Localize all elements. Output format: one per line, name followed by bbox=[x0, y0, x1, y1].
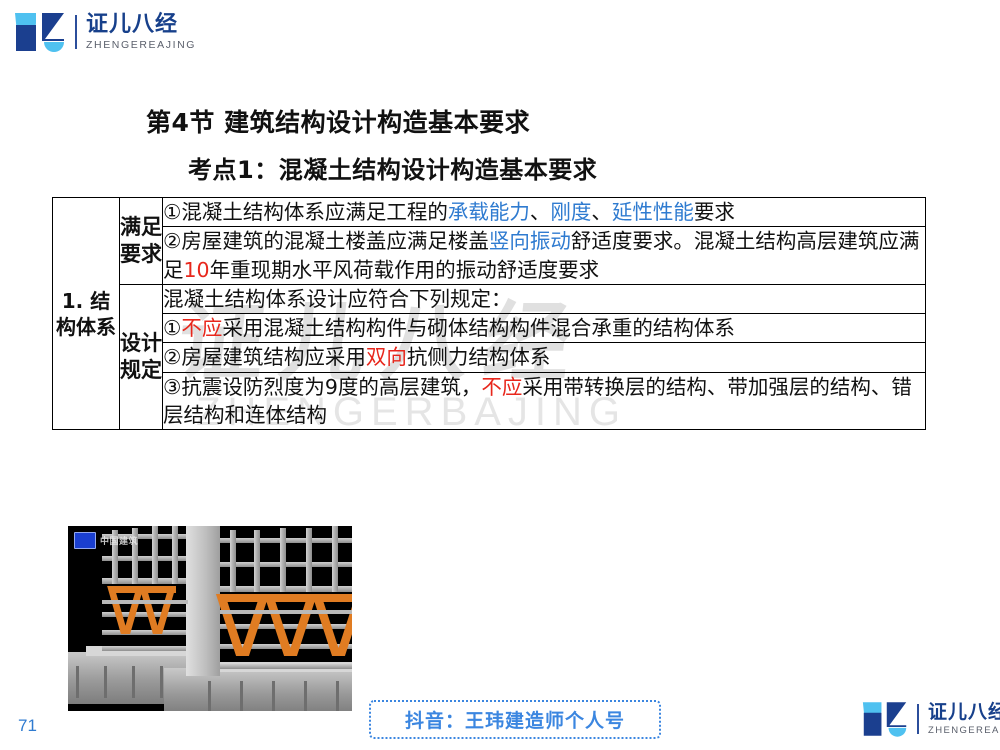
group-label-0: 满足要求 bbox=[120, 198, 163, 285]
brand-divider bbox=[917, 704, 919, 734]
group-label-1: 设计规定 bbox=[120, 284, 163, 429]
text-run-3: 刚度 bbox=[550, 200, 591, 224]
text-run-1: 承载能力 bbox=[448, 200, 530, 224]
content-cell-0-1: ②房屋建筑的混凝土楼盖应满足楼盖竖向振动舒适度要求。混凝土结构高层建筑应满足10… bbox=[163, 227, 926, 285]
photo-watermark-label: 中国建筑 bbox=[100, 534, 138, 547]
z-logo-icon bbox=[862, 700, 908, 738]
text-run-0: ②房屋建筑结构应采用 bbox=[163, 345, 366, 369]
text-run-4: 、 bbox=[591, 200, 612, 224]
douyin-callout: 抖音：王玮建造师个人号 bbox=[369, 700, 661, 739]
table-row: ③抗震设防烈度为9度的高层建筑，不应采用带转换层的结构、带加强层的结构、错层结构… bbox=[53, 372, 926, 430]
content-cell-1-2: ②房屋建筑结构应采用双向抗侧力结构体系 bbox=[163, 343, 926, 372]
text-run-6: 要求 bbox=[694, 200, 735, 224]
blue-badge-icon bbox=[74, 532, 96, 549]
table-row: ①不应采用混凝土结构构件与砌体结构构件混合承重的结构体系 bbox=[53, 314, 926, 343]
content-cell-1-1: ①不应采用混凝土结构构件与砌体结构构件混合承重的结构体系 bbox=[163, 314, 926, 343]
text-run-4: 年重现期水平风荷载作用的振动舒适度要求 bbox=[210, 258, 600, 282]
text-run-2: 抗侧力结构体系 bbox=[407, 345, 551, 369]
brand-name-cn: 证儿八经 bbox=[86, 14, 196, 36]
photo-watermark: 中国建筑 bbox=[74, 532, 138, 549]
brand-logo-bottom: 证儿八经 ZHENGEREAJING bbox=[862, 700, 1000, 738]
content-cell-0-0: ①混凝土结构体系应满足工程的承载能力、刚度、延性性能要求 bbox=[163, 198, 926, 227]
table-row: 1. 结构体系 满足要求 ①混凝土结构体系应满足工程的承载能力、刚度、延性性能要… bbox=[53, 198, 926, 227]
brand-name-cn: 证儿八经 bbox=[928, 703, 1000, 722]
text-run-1: 双向 bbox=[366, 345, 407, 369]
douyin-label: 抖音：王玮建造师个人号 bbox=[405, 706, 625, 733]
brand-divider bbox=[75, 15, 77, 49]
text-run-0: ①混凝土结构体系应满足工程的 bbox=[163, 200, 448, 224]
text-run-2: 采用混凝土结构构件与砌体结构构件混合承重的结构体系 bbox=[222, 316, 735, 340]
text-run-1: 竖向振动 bbox=[489, 229, 571, 253]
text-run-1: 不应 bbox=[481, 375, 522, 399]
brand-logo-top: 证儿八经 ZHENGEREAJING bbox=[14, 11, 196, 53]
text-run-2: 、 bbox=[530, 200, 551, 224]
structure-model-photo: 中国建筑 bbox=[68, 526, 352, 711]
text-run-0: ③抗震设防烈度为9度的高层建筑， bbox=[163, 375, 481, 399]
brand-wordmark: 证儿八经 ZHENGEREAJING bbox=[928, 703, 1000, 736]
brand-name-en: ZHENGEREAJING bbox=[928, 726, 1000, 736]
z-logo-icon bbox=[14, 11, 66, 53]
knowledge-table: 1. 结构体系 满足要求 ①混凝土结构体系应满足工程的承载能力、刚度、延性性能要… bbox=[52, 197, 926, 430]
text-run-0: 混凝土结构体系设计应符合下列规定： bbox=[163, 287, 512, 311]
content-cell-1-0: 混凝土结构体系设计应符合下列规定： bbox=[163, 284, 926, 313]
text-run-0: ②房屋建筑的混凝土楼盖应满足楼盖 bbox=[163, 229, 489, 253]
table-row: ②房屋建筑的混凝土楼盖应满足楼盖竖向振动舒适度要求。混凝土结构高层建筑应满足10… bbox=[53, 227, 926, 285]
table-row: 设计规定 混凝土结构体系设计应符合下列规定： bbox=[53, 284, 926, 313]
table-body: 1. 结构体系 满足要求 ①混凝土结构体系应满足工程的承载能力、刚度、延性性能要… bbox=[53, 198, 926, 430]
text-run-3: 10 bbox=[184, 258, 210, 282]
section-title: 第4节 建筑结构设计构造基本要求 bbox=[146, 103, 530, 139]
text-run-1: 不应 bbox=[181, 316, 222, 340]
brand-wordmark: 证儿八经 ZHENGEREAJING bbox=[86, 14, 196, 51]
category-cell: 1. 结构体系 bbox=[53, 198, 120, 430]
photo-scene bbox=[68, 526, 352, 711]
text-run-5: 延性性能 bbox=[612, 200, 694, 224]
content-cell-1-3: ③抗震设防烈度为9度的高层建筑，不应采用带转换层的结构、带加强层的结构、错层结构… bbox=[163, 372, 926, 430]
brand-name-en: ZHENGEREAJING bbox=[86, 40, 196, 51]
page-number: 71 bbox=[18, 716, 37, 736]
point-title: 考点1：混凝土结构设计构造基本要求 bbox=[188, 150, 597, 185]
text-run-0: ① bbox=[163, 316, 181, 340]
table-row: ②房屋建筑结构应采用双向抗侧力结构体系 bbox=[53, 343, 926, 372]
